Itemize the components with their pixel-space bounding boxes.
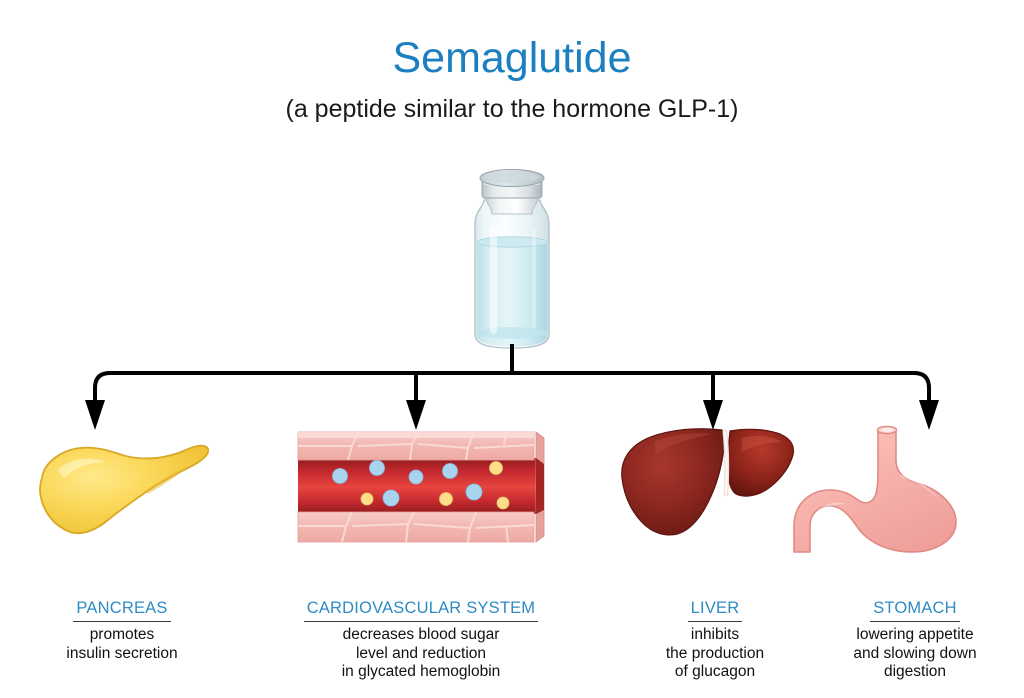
caption-liver: LIVER inhibits the production of glucago… — [636, 598, 794, 682]
caption-line: decreases blood sugar — [286, 626, 556, 645]
caption-heading-cardiovascular: CARDIOVASCULAR SYSTEM — [304, 598, 539, 622]
caption-heading-stomach: STOMACH — [870, 598, 960, 622]
caption-line: and slowing down — [820, 645, 1010, 664]
arrow-head-pancreas — [85, 400, 105, 430]
caption-line: of glucagon — [636, 663, 794, 682]
page-title: Semaglutide — [0, 32, 1024, 84]
caption-line: level and reduction — [286, 645, 556, 664]
caption-pancreas: PANCREAS promotes insulin secretion — [12, 598, 232, 663]
caption-stomach: STOMACH lowering appetite and slowing do… — [820, 598, 1010, 682]
page-subtitle: (a peptide similar to the hormone GLP-1) — [0, 93, 1024, 125]
blood-vessel-icon — [292, 426, 550, 550]
medication-vial-icon — [462, 166, 562, 350]
caption-heading-liver: LIVER — [688, 598, 743, 622]
caption-line: insulin secretion — [12, 645, 232, 664]
pancreas-organ-icon — [28, 432, 228, 550]
stomach-organ-icon — [788, 418, 988, 558]
liver-organ-icon — [614, 420, 802, 552]
caption-line: the production — [636, 645, 794, 664]
caption-heading-pancreas: PANCREAS — [73, 598, 170, 622]
caption-cardiovascular: CARDIOVASCULAR SYSTEM decreases blood su… — [286, 598, 556, 682]
caption-line: lowering appetite — [820, 626, 1010, 645]
caption-line: digestion — [820, 663, 1010, 682]
caption-line: promotes — [12, 626, 232, 645]
infographic-canvas: Semaglutide (a peptide similar to the ho… — [0, 0, 1024, 698]
caption-line: in glycated hemoglobin — [286, 663, 556, 682]
caption-line: inhibits — [636, 626, 794, 645]
